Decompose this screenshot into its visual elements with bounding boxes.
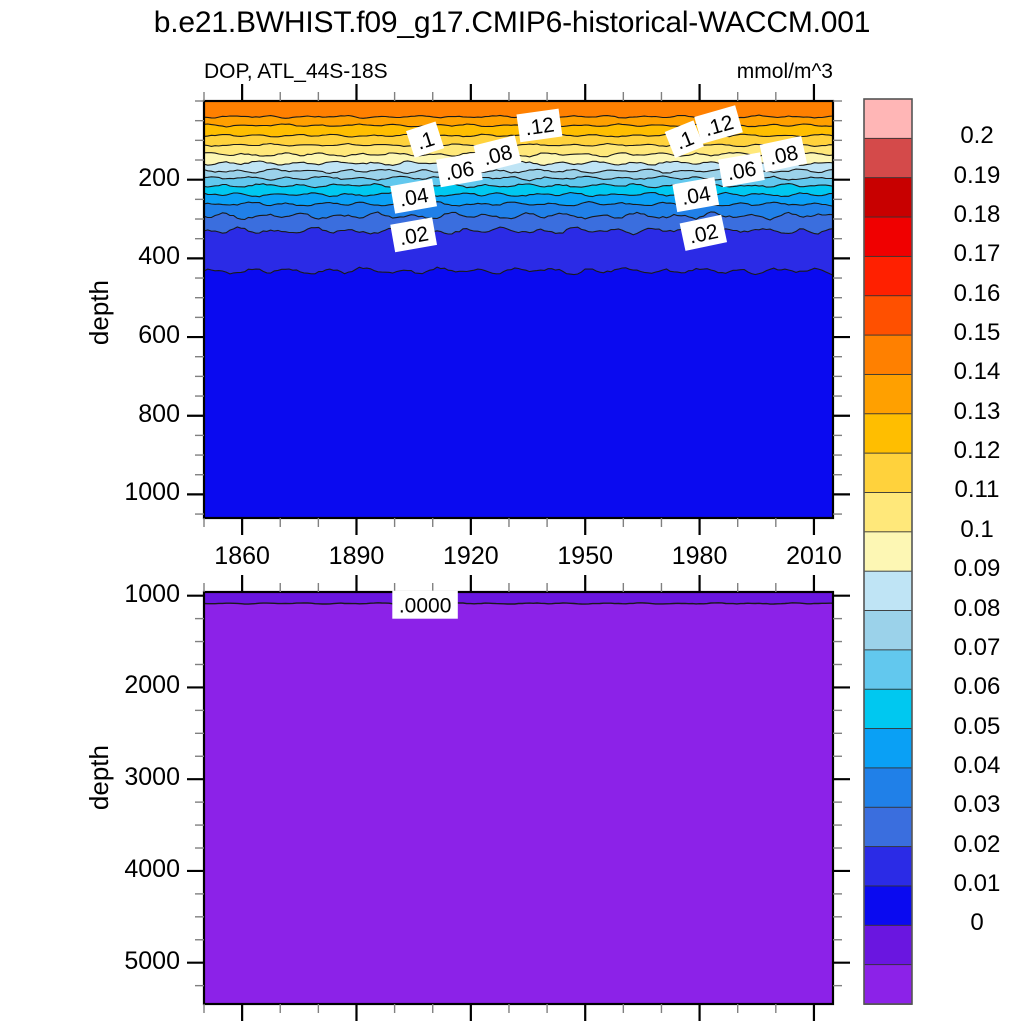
- colorbar-tick-label: 0.16: [922, 280, 1024, 308]
- y-tick-label: 4000: [20, 855, 180, 884]
- colorbar-band[interactable]: [864, 925, 912, 965]
- contour-label: .0000: [392, 591, 458, 619]
- colorbar-band[interactable]: [864, 178, 912, 218]
- colorbar-tick-label: 0.08: [922, 595, 1024, 623]
- colorbar-band[interactable]: [864, 571, 912, 611]
- lower-panel-contour-labels: .0000: [392, 591, 458, 619]
- colorbar-band[interactable]: [864, 611, 912, 651]
- svg-text:.12: .12: [524, 113, 556, 140]
- colorbar-tick-label: 0.09: [922, 555, 1024, 583]
- colorbar-band[interactable]: [864, 729, 912, 769]
- colorbar-tick-label: 0.07: [922, 634, 1024, 662]
- colorbar-tick-label: 0.11: [922, 476, 1024, 504]
- y-tick-label: 1000: [20, 580, 180, 609]
- lower-panel-contour-fill: [204, 592, 833, 1004]
- x-tick-label: 1950: [535, 542, 635, 571]
- y-tick-label: 3000: [20, 763, 180, 792]
- colorbar-tick-label: 0.02: [922, 831, 1024, 859]
- colorbar-band[interactable]: [864, 807, 912, 847]
- y-tick-label: 1000: [20, 478, 180, 507]
- y-tick-label: 800: [20, 400, 180, 429]
- contour-label: .12: [516, 109, 562, 143]
- colorbar-band[interactable]: [864, 217, 912, 257]
- colorbar-tick-label: 0: [922, 909, 1024, 937]
- colorbar-tick-label: 0.06: [922, 673, 1024, 701]
- colorbar-band[interactable]: [864, 453, 912, 493]
- colorbar-tick-label: 0.05: [922, 713, 1024, 741]
- colorbar-band[interactable]: [864, 138, 912, 178]
- colorbar-tick-label: 0.15: [922, 319, 1024, 347]
- x-tick-label: 1920: [421, 542, 521, 571]
- y-tick-label: 400: [20, 242, 180, 271]
- colorbar-band[interactable]: [864, 532, 912, 572]
- colorbar-band[interactable]: [864, 414, 912, 454]
- colorbar-band[interactable]: [864, 296, 912, 336]
- colorbar-tick-label: 0.03: [922, 791, 1024, 819]
- colorbar-band[interactable]: [864, 99, 912, 139]
- x-tick-label: 1890: [306, 542, 406, 571]
- colorbar-tick-label: 0.18: [922, 201, 1024, 229]
- colorbar-tick-label: 0.14: [922, 358, 1024, 386]
- colorbar-band[interactable]: [864, 492, 912, 532]
- colorbar-tick-label: 0.04: [922, 752, 1024, 780]
- y-tick-label: 600: [20, 321, 180, 350]
- colorbar-band[interactable]: [864, 374, 912, 414]
- colorbar-tick-label: 0.13: [922, 398, 1024, 426]
- colorbar-band[interactable]: [864, 847, 912, 887]
- y-tick-label: 2000: [20, 671, 180, 700]
- y-tick-label: 200: [20, 164, 180, 193]
- colorbar[interactable]: [864, 99, 912, 1004]
- y-tick-label: 5000: [20, 947, 180, 976]
- x-tick-label: 1860: [192, 542, 292, 571]
- colorbar-band[interactable]: [864, 650, 912, 690]
- colorbar-tick-label: 0.19: [922, 162, 1024, 190]
- x-tick-label: 2010: [764, 542, 864, 571]
- colorbar-band[interactable]: [864, 335, 912, 375]
- colorbar-tick-label: 0.2: [922, 122, 1024, 150]
- colorbar-band[interactable]: [864, 256, 912, 296]
- colorbar-tick-label: 0.1: [922, 516, 1024, 544]
- svg-text:.0000: .0000: [399, 595, 452, 618]
- colorbar-tick-label: 0.12: [922, 437, 1024, 465]
- colorbar-band[interactable]: [864, 965, 912, 1005]
- colorbar-tick-label: 0.17: [922, 240, 1024, 268]
- colorbar-band[interactable]: [864, 689, 912, 729]
- x-tick-label: 1980: [650, 542, 750, 571]
- colorbar-tick-label: 0.01: [922, 870, 1024, 898]
- colorbar-band[interactable]: [864, 768, 912, 808]
- colorbar-band[interactable]: [864, 886, 912, 926]
